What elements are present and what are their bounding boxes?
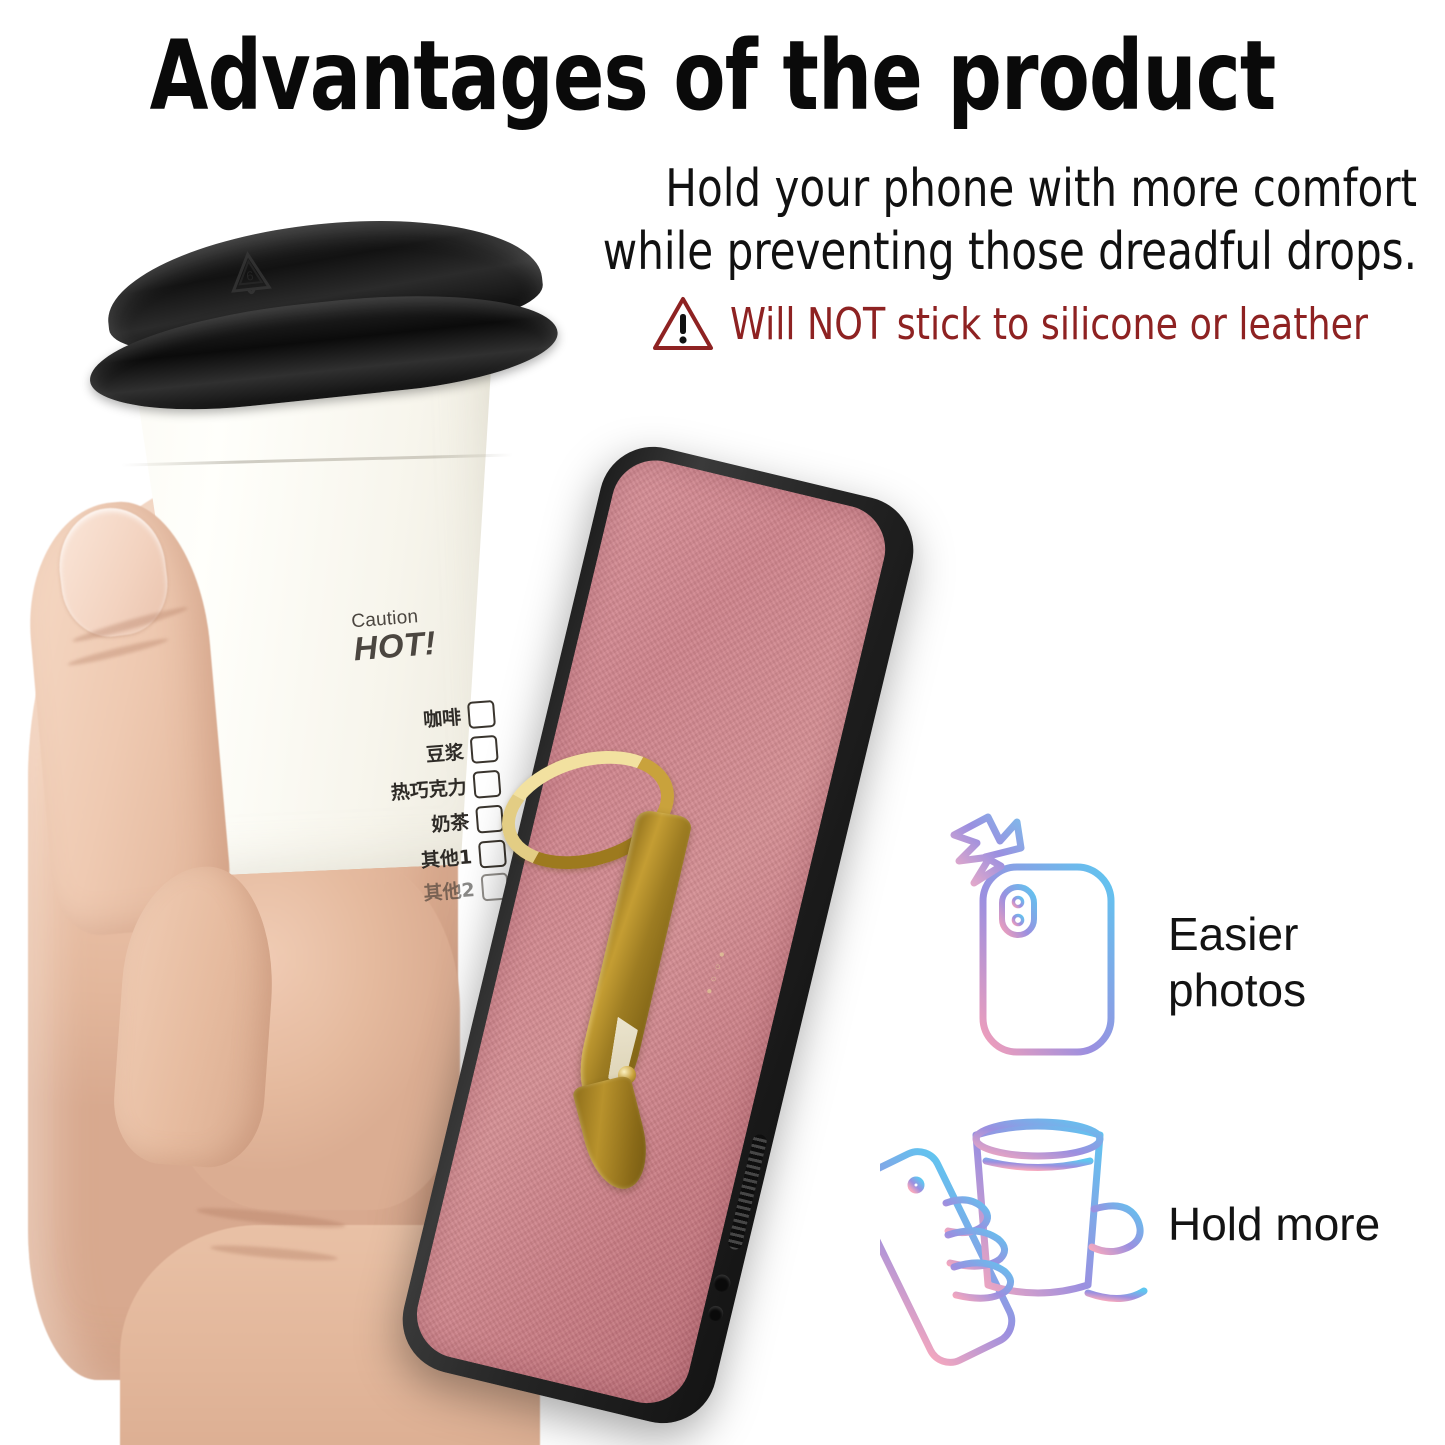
feature-1-label-line2: photos [1168, 962, 1306, 1018]
cup-caution-label: Caution HOT! [351, 601, 485, 668]
warning-banner: Will NOT stick to silicone or leather [652, 296, 1423, 352]
page-subtitle: Hold your phone with more comfort while … [562, 158, 1417, 285]
feature-2-label: Hold more [1168, 1196, 1380, 1252]
cup-option-label: 其他2 [422, 875, 475, 906]
kickstand-foot [572, 1074, 657, 1195]
feature-2-label-line1: Hold more [1168, 1196, 1380, 1252]
cup-option-label: 咖啡 [422, 703, 462, 733]
cup-option-row: 热巧克力 [320, 770, 502, 811]
warning-triangle-icon [652, 296, 714, 352]
cup-option-label: 其他1 [420, 842, 473, 873]
cup-option-label: 豆浆 [425, 737, 465, 767]
cup-option-row: 豆浆 [317, 735, 499, 776]
gold-ring-holder: ● ○ ○ ● [492, 750, 722, 1180]
cup-option-row: 奶茶 [323, 805, 505, 846]
phone-camera-flash-icon [925, 805, 1140, 1070]
feature-1-label-line1: Easier [1168, 906, 1306, 962]
page-title: Advantages of the product [86, 28, 1340, 124]
cup-option-row: 其他2 [328, 872, 510, 913]
warning-text: Will NOT stick to silicone or leather [730, 299, 1368, 350]
feature-1-label: Easier photos [1168, 906, 1306, 1018]
cup-option-checklist: 咖啡豆浆热巧克力奶茶其他1其他2 [314, 700, 510, 921]
cup-option-label: 热巧克力 [390, 772, 468, 805]
recycle-icon: 6 [224, 247, 275, 302]
product-advantages-banner: Caution HOT! 咖啡豆浆热巧克力奶茶其他1其他2 6 [0, 0, 1445, 1445]
cup-option-label: 奶茶 [430, 807, 470, 837]
recycle-number: 6 [246, 268, 255, 284]
hand-holding-cup-and-phone-icon [880, 1105, 1150, 1380]
cup-option-checkbox [467, 700, 496, 729]
